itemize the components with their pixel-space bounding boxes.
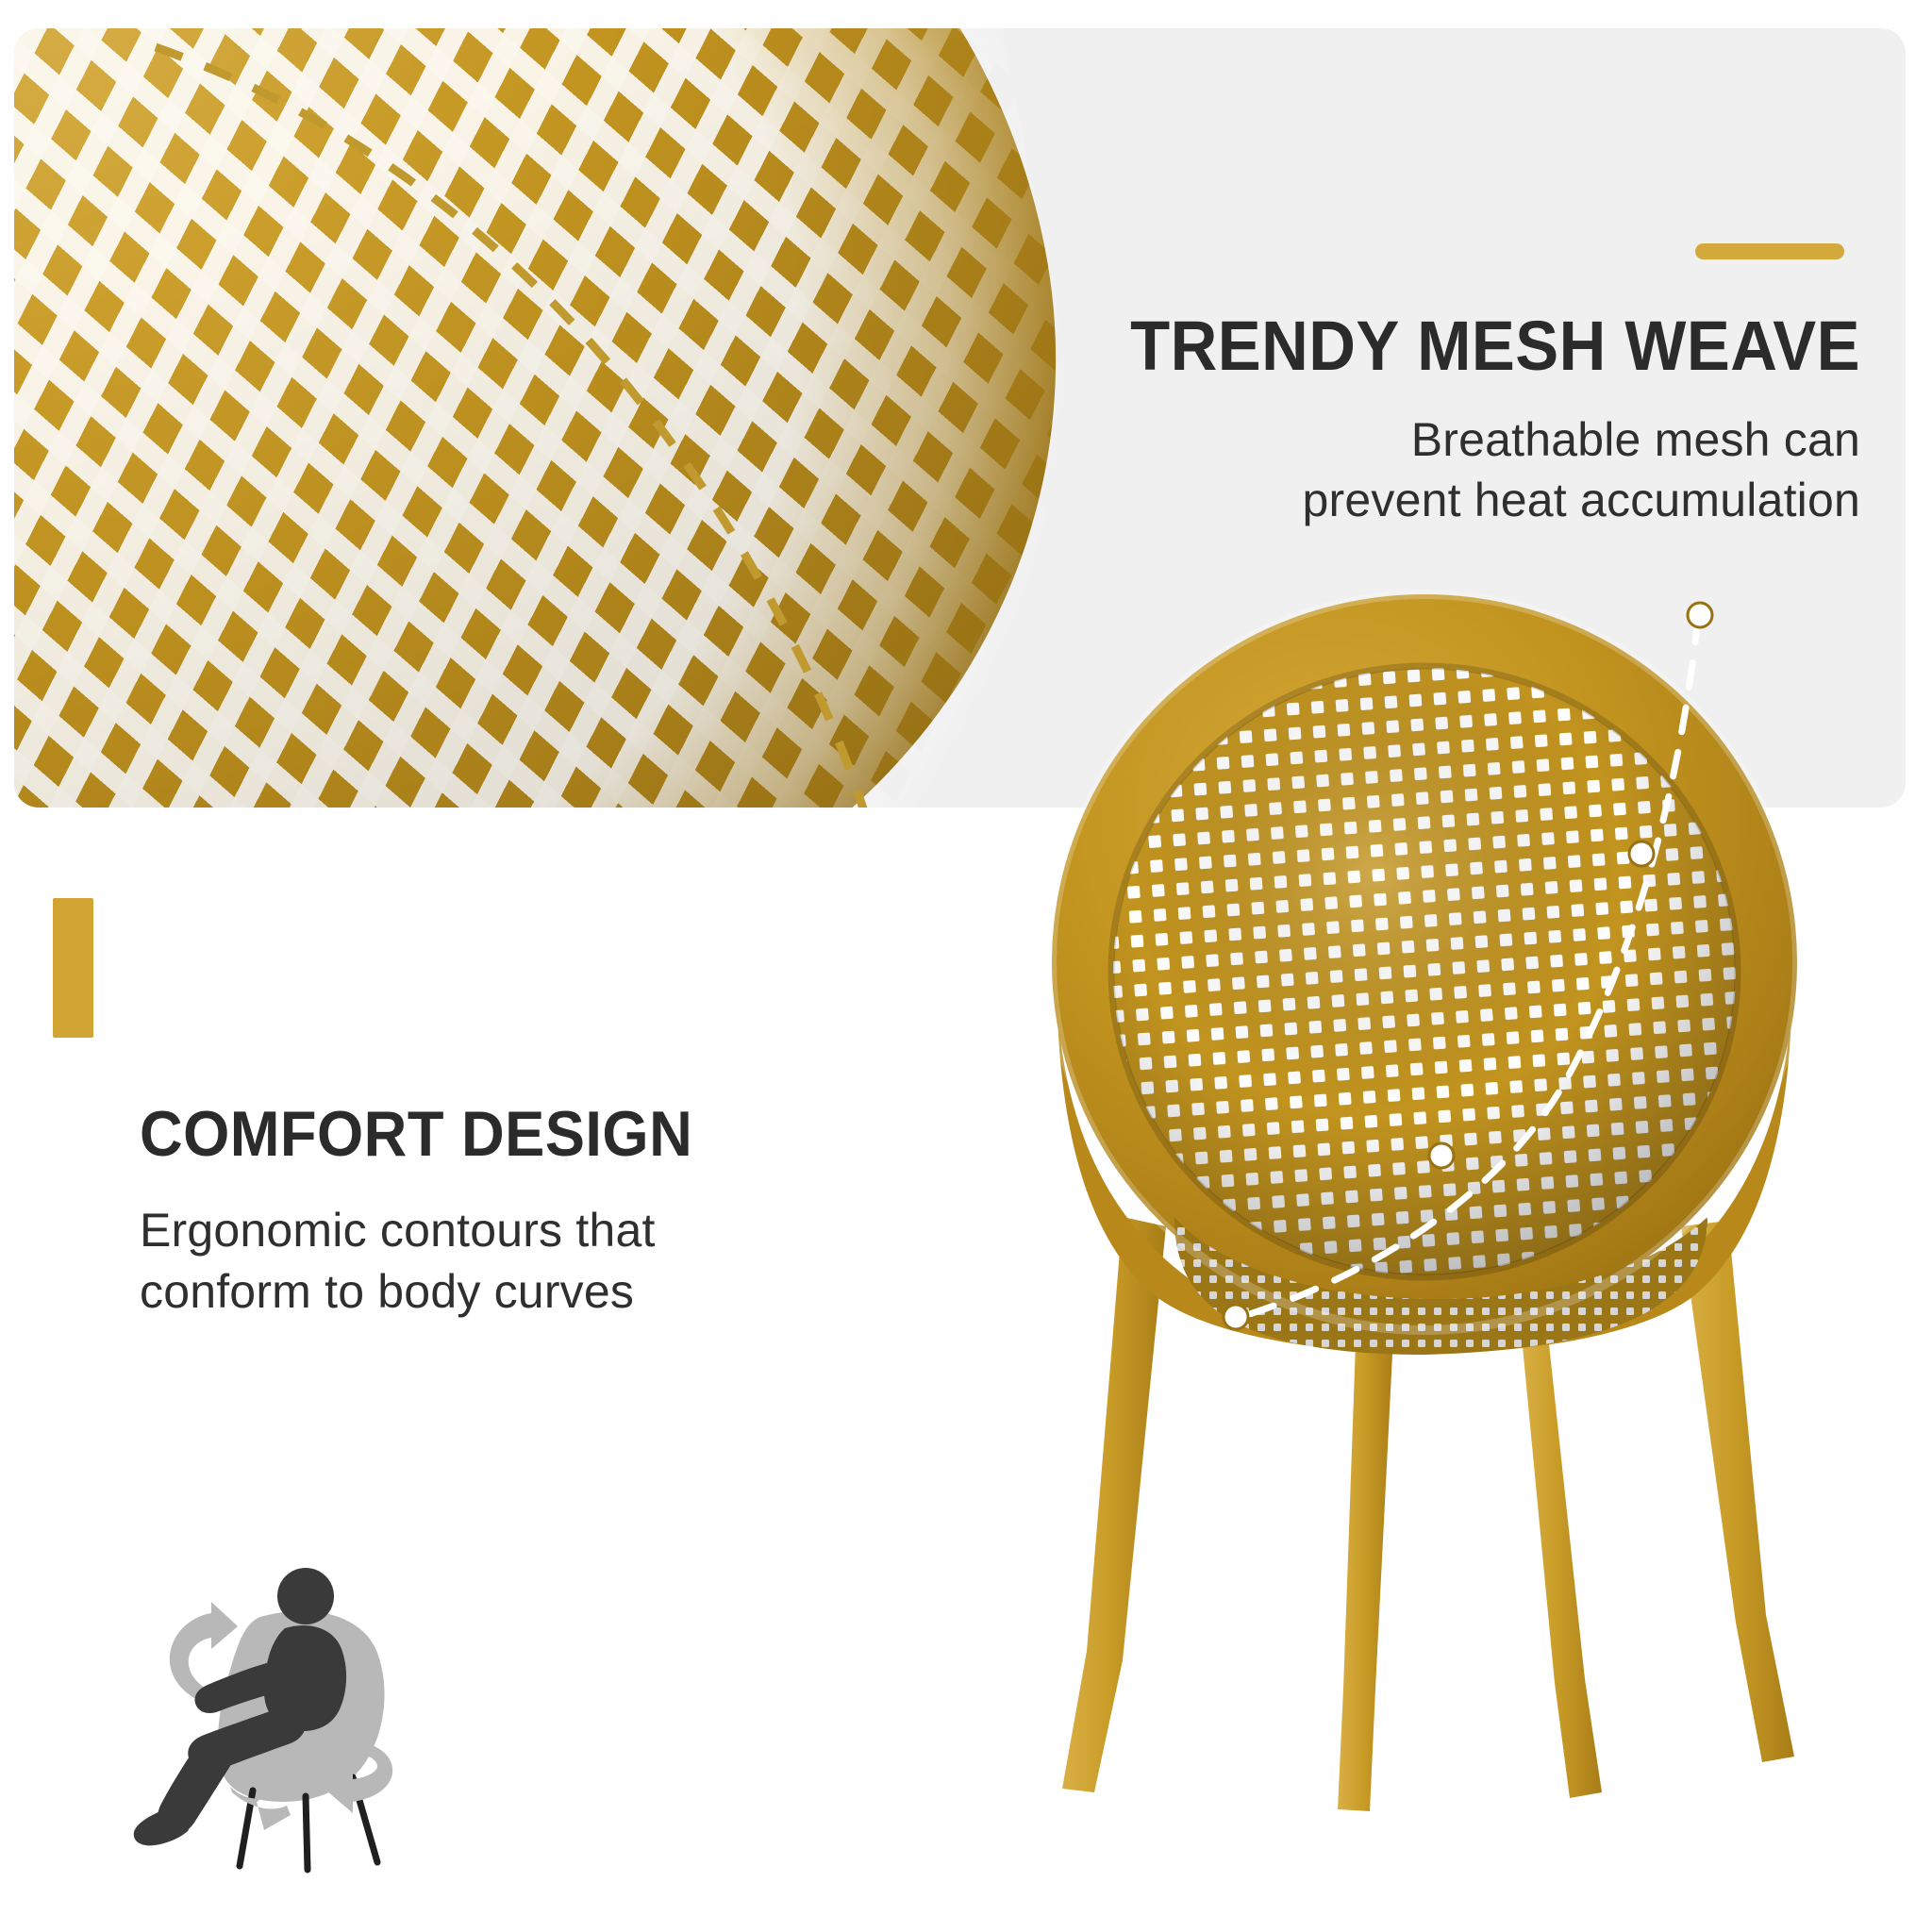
- bottom-subtitle: Ergonomic contours that conform to body …: [140, 1200, 989, 1323]
- contour-marker-4: [1224, 1305, 1248, 1329]
- person-seated-in-chair-icon: [121, 1555, 432, 1875]
- chair-product-photo: [981, 566, 1906, 1887]
- top-subtitle-line-1: Breathable mesh can: [860, 409, 1860, 470]
- top-text-block: TRENDY MESH WEAVE Breathable mesh can pr…: [860, 311, 1860, 530]
- top-subtitle-line-2: prevent heat accumulation: [860, 470, 1860, 530]
- bottom-subtitle-line-2: conform to body curves: [140, 1261, 989, 1323]
- page-title-trendy-mesh-weave: TRENDY MESH WEAVE: [930, 311, 1860, 381]
- gold-vertical-accent: [53, 898, 93, 1038]
- infographic-canvas: TRENDY MESH WEAVE Breathable mesh can pr…: [0, 0, 1932, 1932]
- top-subtitle: Breathable mesh can prevent heat accumul…: [860, 409, 1860, 530]
- contour-marker-3: [1429, 1143, 1454, 1168]
- gold-pill-accent: [1695, 243, 1844, 259]
- bottom-text-block: COMFORT DESIGN Ergonomic contours that c…: [140, 1102, 989, 1323]
- contour-marker-2: [1629, 841, 1654, 866]
- contour-marker-1: [1688, 603, 1712, 627]
- bottom-subtitle-line-1: Ergonomic contours that: [140, 1200, 989, 1261]
- section-title-comfort-design: COMFORT DESIGN: [140, 1102, 929, 1166]
